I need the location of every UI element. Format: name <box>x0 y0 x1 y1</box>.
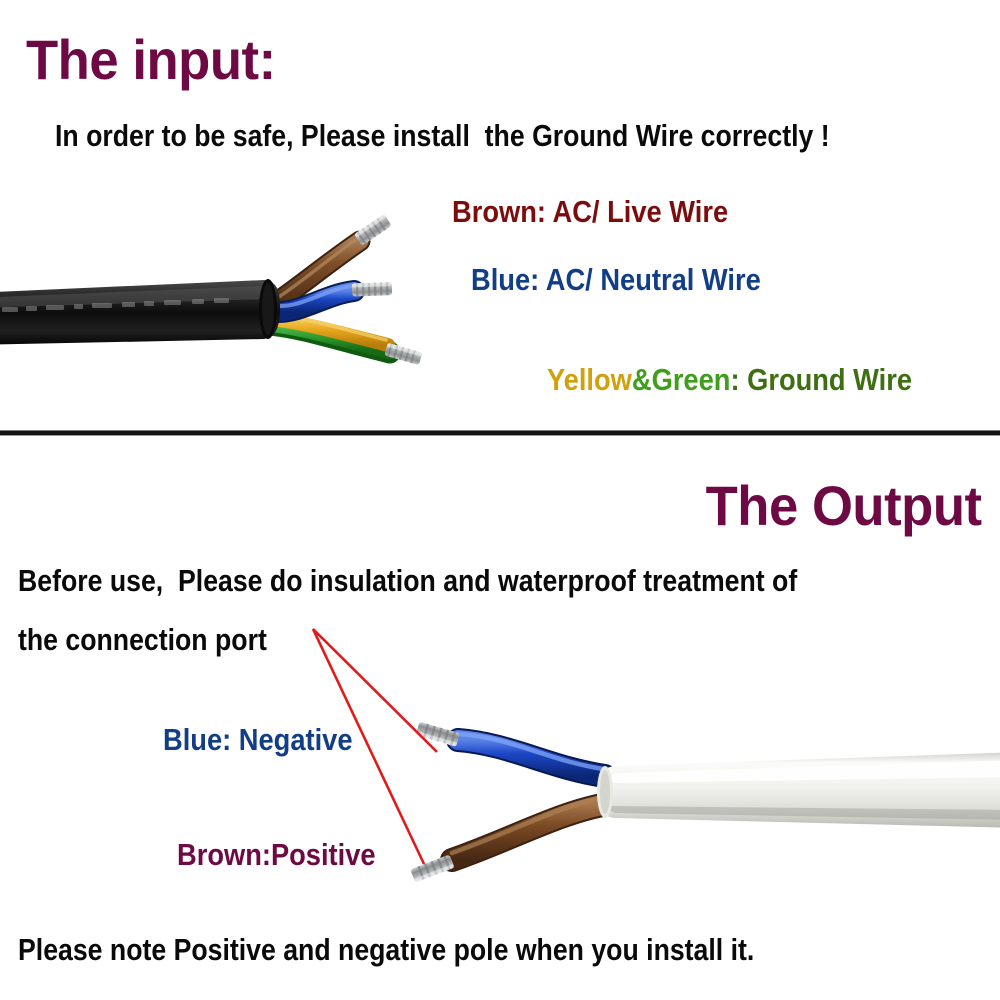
three-core-ac-cable-photo <box>0 195 512 390</box>
label-blue-negative: Blue: Negative <box>163 724 353 755</box>
output-footer-note: Please note Positive and negative pole w… <box>18 934 754 965</box>
label-part-ground-wire: : Ground Wire <box>730 362 912 397</box>
output-instruction-line-2: the connection port <box>18 624 267 655</box>
instruction-sheet-page: The input: In order to be safe, Please i… <box>0 0 1000 1000</box>
label-blue-neutral-wire: Blue: AC/ Neutral Wire <box>471 264 761 295</box>
label-brown-positive: Brown:Positive <box>177 839 376 870</box>
label-part-yellow: Yellow <box>547 362 632 397</box>
input-instruction-text: In order to be safe, Please install the … <box>55 120 830 151</box>
output-section-title: The Output <box>706 478 982 534</box>
output-instruction-line-1: Before use, Please do insulation and wat… <box>18 565 797 596</box>
section-divider <box>0 430 1000 436</box>
label-yellow-green-ground-wire: Yellow&Green: Ground Wire <box>502 333 912 426</box>
two-core-dc-cable-photo <box>400 700 1000 915</box>
label-part-green: &Green <box>632 362 731 397</box>
input-section-title: The input: <box>26 32 276 88</box>
label-brown-live-wire: Brown: AC/ Live Wire <box>452 196 728 227</box>
